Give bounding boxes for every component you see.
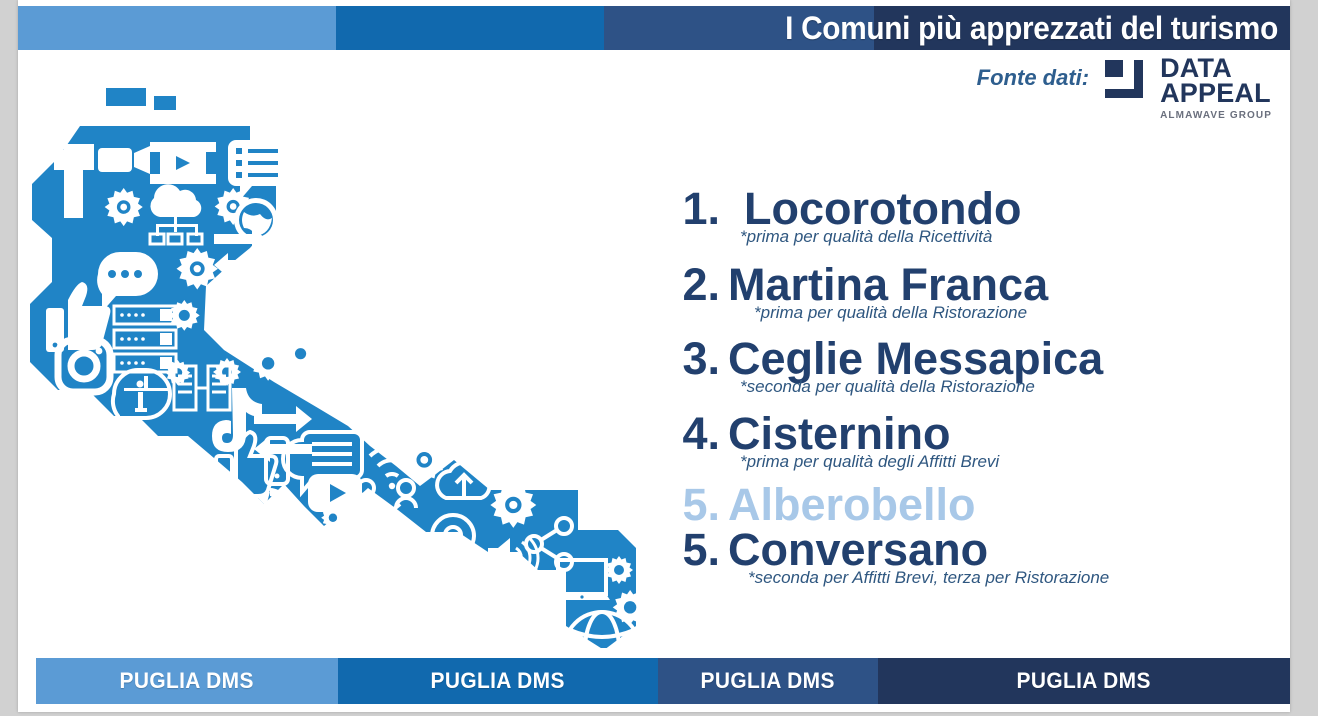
rank-name-1: Locorotondo xyxy=(744,186,1021,231)
rank-item-4: 4. Cisternino *prima per qualità degli A… xyxy=(666,411,1278,472)
footer-label-2: PUGLIA DMS xyxy=(431,668,565,694)
source-label: Fonte dati: xyxy=(977,56,1089,91)
rank-item-3: 3. Ceglie Messapica *seconda per qualità… xyxy=(666,336,1278,397)
rank-name-5-conversano: Conversano xyxy=(728,527,988,572)
rank-name-5-alberobello: Alberobello xyxy=(728,482,976,527)
rank-number-5-conversano: 5. xyxy=(666,527,720,572)
video-camera-icon xyxy=(98,146,150,174)
data-appeal-logo: DATA APPEAL ALMAWAVE GROUP xyxy=(1105,56,1272,120)
logo-line-3: ALMAWAVE GROUP xyxy=(1160,111,1272,120)
rank-number-5-alberobello: 5. xyxy=(666,482,720,527)
slide-canvas: I Comuni più apprezzati del turismo Font… xyxy=(18,0,1290,712)
data-appeal-mark-icon xyxy=(1105,58,1151,110)
gear-icon xyxy=(285,338,316,369)
footer-segment-3: PUGLIA DMS xyxy=(658,658,878,704)
header-segment-1 xyxy=(18,6,336,50)
footer-label-1: PUGLIA DMS xyxy=(120,668,254,694)
rank-name-3: Ceglie Messapica xyxy=(728,336,1103,381)
rank-note-2: *prima per qualità della Ristorazione xyxy=(754,303,1278,323)
youtube-icon xyxy=(308,474,362,512)
camera-icon xyxy=(126,442,188,488)
data-appeal-wordmark: DATA APPEAL ALMAWAVE GROUP xyxy=(1160,56,1272,120)
rank-note-4: *prima per qualità degli Affitti Brevi xyxy=(740,452,1278,472)
people-icon xyxy=(514,567,562,602)
footer-segment-1: PUGLIA DMS xyxy=(36,658,338,704)
footer-bar: PUGLIA DMS PUGLIA DMS PUGLIA DMS PUGLIA … xyxy=(18,658,1290,704)
footer-label-3: PUGLIA DMS xyxy=(701,668,835,694)
rank-item-5-conversano: 5. Conversano *seconda per Affitti Brevi… xyxy=(666,527,1278,588)
puglia-map-graphic xyxy=(18,70,658,650)
rank-number-3: 3. xyxy=(666,336,720,381)
rank-item-1: 1. Locorotondo *prima per qualità della … xyxy=(666,186,1278,247)
x-twitter-icon xyxy=(469,562,515,608)
puglia-map-svg xyxy=(18,70,658,650)
ranking-list: 1. Locorotondo *prima per qualità della … xyxy=(666,186,1278,588)
rank-number-1: 1. xyxy=(666,186,720,231)
rank-item-2: 2. Martina Franca *prima per qualità del… xyxy=(666,262,1278,323)
rank-name-2: Martina Franca xyxy=(728,262,1048,307)
footer-segment-2: PUGLIA DMS xyxy=(338,658,658,704)
share-nodes-icon xyxy=(75,423,131,475)
rank-note-3: *seconda per qualità della Ristorazione xyxy=(740,377,1278,397)
tremiti-islands-icon xyxy=(106,88,176,110)
source-attribution: Fonte dati: DATA APPEAL ALMAWAVE GROUP xyxy=(977,56,1272,120)
footer-segment-4: PUGLIA DMS xyxy=(878,658,1290,704)
logo-line-2: APPEAL xyxy=(1160,81,1272,106)
rank-name-4: Cisternino xyxy=(728,411,951,456)
page-title: I Comuni più apprezzati del turismo xyxy=(785,10,1278,47)
rank-item-5-alberobello: 5. Alberobello xyxy=(666,482,1278,527)
header-bar: I Comuni più apprezzati del turismo xyxy=(18,6,1290,50)
footer-label-4: PUGLIA DMS xyxy=(1017,668,1151,694)
rank-number-4: 4. xyxy=(666,411,720,456)
rank-number-2: 2. xyxy=(666,262,720,307)
rank-note-5-conversano: *seconda per Affitti Brevi, terza per Ri… xyxy=(748,568,1278,588)
header-segment-2 xyxy=(336,6,604,50)
